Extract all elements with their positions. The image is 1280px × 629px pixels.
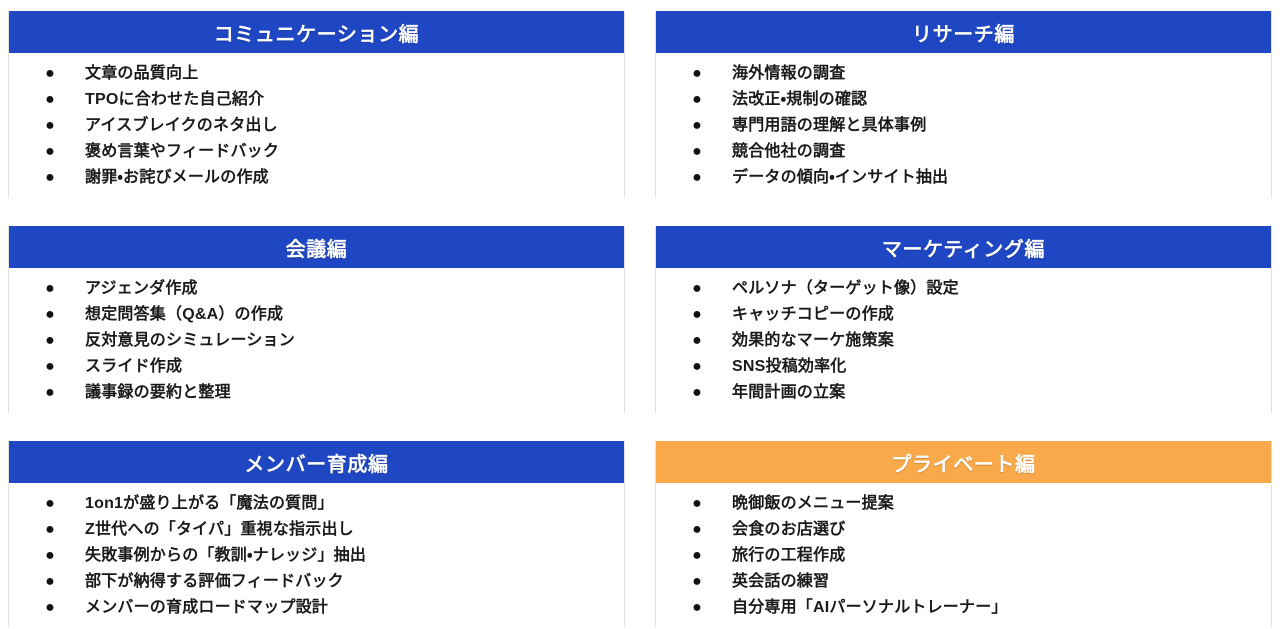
list-item-label: 海外情報の調査 <box>732 61 1257 87</box>
category-card-communication: コミュニケーション編 ● 文章の品質向上 ● TPOに合わせた自己紹介 ● アイ… <box>8 11 625 198</box>
list-item[interactable]: ● Z世代への「タイパ」重視な指示出し <box>23 517 610 543</box>
list-item[interactable]: ● アイスブレイクのネタ出し <box>23 113 610 139</box>
card-title: リサーチ編 <box>912 18 1015 47</box>
bullet-icon: ● <box>692 113 702 139</box>
item-list: ● 文章の品質向上 ● TPOに合わせた自己紹介 ● アイスブレイクのネタ出し … <box>23 61 610 191</box>
list-item-label: SNS投稿効率化 <box>732 354 1257 380</box>
list-item-label: 反対意見のシミュレーション <box>85 328 610 354</box>
list-item[interactable]: ● 会食のお店選び <box>670 517 1257 543</box>
card-header-private: プライベート編 <box>656 441 1271 483</box>
list-item[interactable]: ● 年間計画の立案 <box>670 380 1257 406</box>
list-item[interactable]: ● ペルソナ（ターゲット像）設定 <box>670 276 1257 302</box>
card-body-private: ● 晩御飯のメニュー提案 ● 会食のお店選び ● 旅行の工程作成 ● 英会話の練… <box>656 483 1271 629</box>
category-card-member-development: メンバー育成編 ● 1on1が盛り上がる「魔法の質問」 ● Z世代への「タイパ」… <box>8 441 625 627</box>
list-item-label: 効果的なマーケ施策案 <box>732 328 1257 354</box>
list-item-label: 議事録の要約と整理 <box>85 380 610 406</box>
card-title: コミュニケーション編 <box>214 18 420 47</box>
item-list: ● アジェンダ作成 ● 想定問答集（Q&A）の作成 ● 反対意見のシミュレーショ… <box>23 276 610 406</box>
list-item[interactable]: ● 褒め言葉やフィードバック <box>23 139 610 165</box>
list-item-label: 法改正・規制の確認 <box>732 87 1257 113</box>
list-item-label: ペルソナ（ターゲット像）設定 <box>732 276 1257 302</box>
list-item[interactable]: ● 効果的なマーケ施策案 <box>670 328 1257 354</box>
list-item[interactable]: ● SNS投稿効率化 <box>670 354 1257 380</box>
list-item[interactable]: ● 議事録の要約と整理 <box>23 380 610 406</box>
list-item[interactable]: ● 文章の品質向上 <box>23 61 610 87</box>
list-item[interactable]: ● 英会話の練習 <box>670 569 1257 595</box>
card-body-communication: ● 文章の品質向上 ● TPOに合わせた自己紹介 ● アイスブレイクのネタ出し … <box>9 53 624 199</box>
list-item[interactable]: ● 晩御飯のメニュー提案 <box>670 491 1257 517</box>
card-header-marketing: マーケティング編 <box>656 226 1271 268</box>
item-list: ● 1on1が盛り上がる「魔法の質問」 ● Z世代への「タイパ」重視な指示出し … <box>23 491 610 621</box>
bullet-icon: ● <box>45 543 55 569</box>
list-item[interactable]: ● 想定問答集（Q&A）の作成 <box>23 302 610 328</box>
list-item-label: 謝罪・お詫びメールの作成 <box>85 165 610 191</box>
bullet-icon: ● <box>45 276 55 302</box>
bullet-icon: ● <box>692 491 702 517</box>
list-item-label: 晩御飯のメニュー提案 <box>732 491 1257 517</box>
bullet-icon: ● <box>45 113 55 139</box>
category-card-grid: コミュニケーション編 ● 文章の品質向上 ● TPOに合わせた自己紹介 ● アイ… <box>0 0 1280 626</box>
card-header-communication: コミュニケーション編 <box>9 11 624 53</box>
list-item-label: アイスブレイクのネタ出し <box>85 113 610 139</box>
item-list: ● ペルソナ（ターゲット像）設定 ● キャッチコピーの作成 ● 効果的なマーケ施… <box>670 276 1257 406</box>
bullet-icon: ● <box>692 595 702 621</box>
card-title: マーケティング編 <box>882 233 1045 262</box>
bullet-icon: ● <box>692 354 702 380</box>
card-title: メンバー育成編 <box>244 448 388 477</box>
bullet-icon: ● <box>692 302 702 328</box>
list-item[interactable]: ● 競合他社の調査 <box>670 139 1257 165</box>
bullet-icon: ● <box>45 491 55 517</box>
item-list: ● 晩御飯のメニュー提案 ● 会食のお店選び ● 旅行の工程作成 ● 英会話の練… <box>670 491 1257 621</box>
list-item-label: アジェンダ作成 <box>85 276 610 302</box>
list-item[interactable]: ● 旅行の工程作成 <box>670 543 1257 569</box>
list-item[interactable]: ● 専門用語の理解と具体事例 <box>670 113 1257 139</box>
card-title: 会議編 <box>286 233 348 262</box>
bullet-icon: ● <box>692 61 702 87</box>
bullet-icon: ● <box>45 302 55 328</box>
list-item-label: メンバーの育成ロードマップ設計 <box>85 595 610 621</box>
list-item-label: データの傾向・インサイト抽出 <box>732 165 1257 191</box>
bullet-icon: ● <box>45 61 55 87</box>
list-item[interactable]: ● メンバーの育成ロードマップ設計 <box>23 595 610 621</box>
list-item-label: 英会話の練習 <box>732 569 1257 595</box>
list-item-label: 褒め言葉やフィードバック <box>85 139 610 165</box>
card-body-meeting: ● アジェンダ作成 ● 想定問答集（Q&A）の作成 ● 反対意見のシミュレーショ… <box>9 268 624 414</box>
bullet-icon: ● <box>45 87 55 113</box>
bullet-icon: ● <box>45 595 55 621</box>
list-item[interactable]: ● データの傾向・インサイト抽出 <box>670 165 1257 191</box>
list-item-label: TPOに合わせた自己紹介 <box>85 87 610 113</box>
bullet-icon: ● <box>692 276 702 302</box>
list-item-label: 1on1が盛り上がる「魔法の質問」 <box>85 491 610 517</box>
card-header-meeting: 会議編 <box>9 226 624 268</box>
list-item[interactable]: ● キャッチコピーの作成 <box>670 302 1257 328</box>
list-item-label: 失敗事例からの「教訓・ナレッジ」抽出 <box>85 543 610 569</box>
bullet-icon: ● <box>45 380 55 406</box>
list-item-label: スライド作成 <box>85 354 610 380</box>
item-list: ● 海外情報の調査 ● 法改正・規制の確認 ● 専門用語の理解と具体事例 ● 競… <box>670 61 1257 191</box>
list-item[interactable]: ● 謝罪・お詫びメールの作成 <box>23 165 610 191</box>
list-item-label: 旅行の工程作成 <box>732 543 1257 569</box>
list-item-label: 年間計画の立案 <box>732 380 1257 406</box>
bullet-icon: ● <box>692 87 702 113</box>
bullet-icon: ● <box>692 543 702 569</box>
bullet-icon: ● <box>692 517 702 543</box>
card-title: プライベート編 <box>891 448 1035 477</box>
bullet-icon: ● <box>692 328 702 354</box>
category-card-marketing: マーケティング編 ● ペルソナ（ターゲット像）設定 ● キャッチコピーの作成 ●… <box>655 226 1272 413</box>
list-item-label: 競合他社の調査 <box>732 139 1257 165</box>
list-item[interactable]: ● 部下が納得する評価フィードバック <box>23 569 610 595</box>
bullet-icon: ● <box>692 139 702 165</box>
card-header-research: リサーチ編 <box>656 11 1271 53</box>
list-item[interactable]: ● 1on1が盛り上がる「魔法の質問」 <box>23 491 610 517</box>
bullet-icon: ● <box>692 165 702 191</box>
list-item[interactable]: ● 法改正・規制の確認 <box>670 87 1257 113</box>
list-item-label: 自分専用「AIパーソナルトレーナー」 <box>732 595 1257 621</box>
list-item-label: Z世代への「タイパ」重視な指示出し <box>85 517 610 543</box>
bullet-icon: ● <box>45 569 55 595</box>
list-item-label: 会食のお店選び <box>732 517 1257 543</box>
list-item[interactable]: ● TPOに合わせた自己紹介 <box>23 87 610 113</box>
card-header-member-development: メンバー育成編 <box>9 441 624 483</box>
bullet-icon: ● <box>45 328 55 354</box>
card-body-research: ● 海外情報の調査 ● 法改正・規制の確認 ● 専門用語の理解と具体事例 ● 競… <box>656 53 1271 199</box>
bullet-icon: ● <box>45 139 55 165</box>
list-item-label: キャッチコピーの作成 <box>732 302 1257 328</box>
list-item[interactable]: ● 自分専用「AIパーソナルトレーナー」 <box>670 595 1257 621</box>
bullet-icon: ● <box>45 165 55 191</box>
list-item[interactable]: ● 海外情報の調査 <box>670 61 1257 87</box>
category-card-research: リサーチ編 ● 海外情報の調査 ● 法改正・規制の確認 ● 専門用語の理解と具体… <box>655 11 1272 198</box>
bullet-icon: ● <box>692 380 702 406</box>
bullet-icon: ● <box>692 569 702 595</box>
category-card-private: プライベート編 ● 晩御飯のメニュー提案 ● 会食のお店選び ● 旅行の工程作成… <box>655 441 1272 627</box>
bullet-icon: ● <box>45 354 55 380</box>
category-card-meeting: 会議編 ● アジェンダ作成 ● 想定問答集（Q&A）の作成 ● 反対意見のシミュ… <box>8 226 625 413</box>
list-item[interactable]: ● 反対意見のシミュレーション <box>23 328 610 354</box>
list-item-label: 専門用語の理解と具体事例 <box>732 113 1257 139</box>
list-item-label: 想定問答集（Q&A）の作成 <box>85 302 610 328</box>
card-body-member-development: ● 1on1が盛り上がる「魔法の質問」 ● Z世代への「タイパ」重視な指示出し … <box>9 483 624 629</box>
card-body-marketing: ● ペルソナ（ターゲット像）設定 ● キャッチコピーの作成 ● 効果的なマーケ施… <box>656 268 1271 414</box>
list-item-label: 文章の品質向上 <box>85 61 610 87</box>
list-item[interactable]: ● スライド作成 <box>23 354 610 380</box>
list-item[interactable]: ● アジェンダ作成 <box>23 276 610 302</box>
bullet-icon: ● <box>45 517 55 543</box>
list-item-label: 部下が納得する評価フィードバック <box>85 569 610 595</box>
list-item[interactable]: ● 失敗事例からの「教訓・ナレッジ」抽出 <box>23 543 610 569</box>
